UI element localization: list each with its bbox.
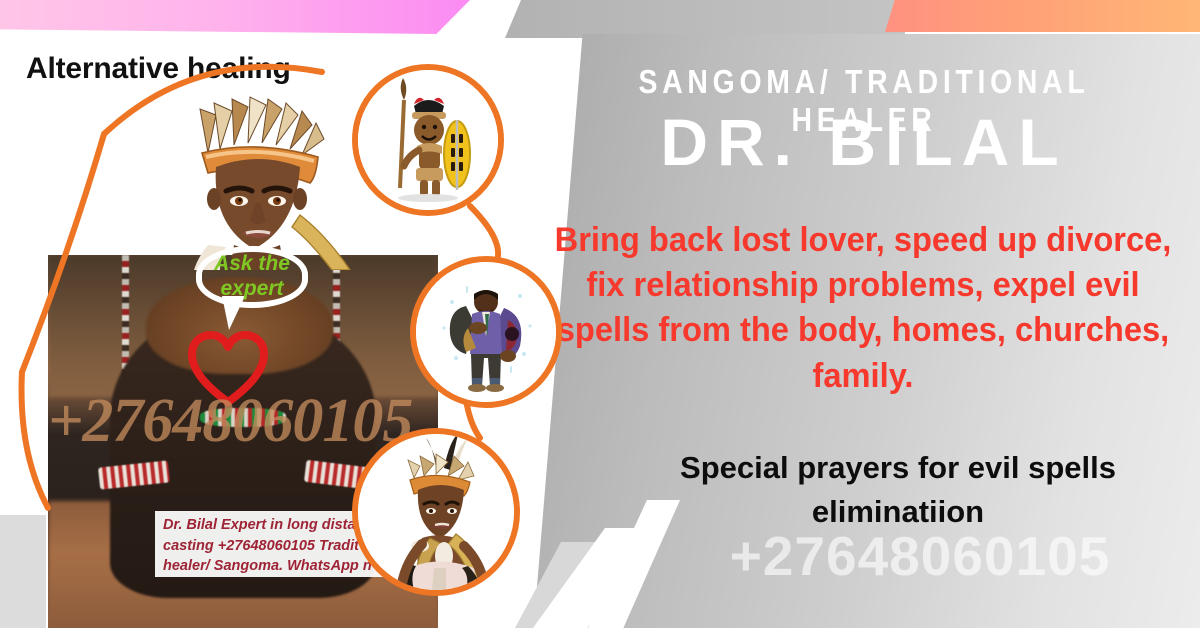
caption-line-3: healer/ Sangoma. WhatsApp n xyxy=(163,556,377,577)
zulu-dancer-icon xyxy=(358,434,514,590)
thumbnail-crouching-zulu-dancer[interactable] xyxy=(352,428,520,596)
caption-line-2: casting +27648060105 Tradit xyxy=(163,536,377,557)
top-bar-gray xyxy=(505,0,905,38)
zulu-warrior-icon xyxy=(358,70,498,210)
thumbnail-zulu-warrior-cartoon[interactable] xyxy=(352,64,504,216)
speech-bubble-text: Ask the expert xyxy=(200,252,304,302)
services-description: Bring back lost lover, speed up divorce,… xyxy=(547,218,1179,399)
brand-name: DR. BILAL xyxy=(540,108,1188,177)
top-bar-orange xyxy=(885,0,1200,32)
thumbnail-healer-with-cloak[interactable] xyxy=(410,256,562,408)
caption-line-1: Dr. Bilal Expert in long distan xyxy=(163,515,377,536)
special-prayers-text: Special prayers for evil spells eliminat… xyxy=(600,446,1196,534)
illustrated-healer-portrait xyxy=(150,95,360,270)
advertisement-poster: Alternative healing xyxy=(0,0,1200,628)
bottom-left-gray-block xyxy=(0,515,46,628)
cloaked-healer-icon xyxy=(416,262,556,402)
panel-phone-watermark: +27648060105 xyxy=(640,524,1200,588)
left-headline: Alternative healing xyxy=(26,52,291,86)
top-bar-pink xyxy=(0,0,470,34)
photo-caption-box: Dr. Bilal Expert in long distan casting … xyxy=(155,511,383,577)
